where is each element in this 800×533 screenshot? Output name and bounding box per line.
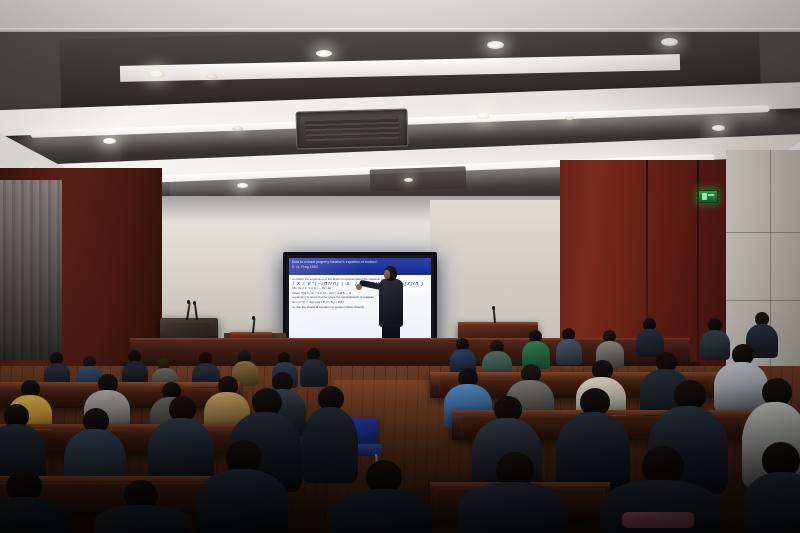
ceiling-downlight — [316, 50, 332, 57]
vent-grille-icon — [305, 117, 400, 142]
person-torso — [744, 472, 800, 533]
audience-member — [450, 338, 476, 372]
lecture-hall-photo: How to extract properly Newton's equatio… — [0, 0, 800, 533]
microphone-head-icon — [252, 316, 255, 320]
ceiling-downlight — [148, 70, 165, 78]
projection-screen: How to extract properly Newton's equatio… — [283, 252, 437, 349]
exit-arrow-icon — [708, 194, 714, 196]
audience-member-foreground — [196, 440, 288, 533]
slide-title-bar: How to extract properly Newton's equatio… — [289, 258, 431, 275]
audience-member-foreground — [94, 480, 190, 533]
ceiling-downlight — [661, 38, 678, 46]
audience-member — [522, 330, 550, 368]
audience-member — [636, 318, 664, 356]
audience-member-foreground — [600, 446, 720, 533]
microphone-head-icon — [187, 300, 190, 304]
person-torso — [332, 489, 432, 533]
audience-member-foreground — [0, 470, 72, 533]
presenter-face — [384, 270, 390, 279]
ceiling-air-conditioner-vent-secondary — [370, 166, 467, 191]
ceiling-soffit-top — [0, 0, 800, 30]
ceiling-soffit-top-edge — [0, 28, 800, 32]
slide-surface: How to extract properly Newton's equatio… — [289, 258, 431, 339]
person-torso — [458, 482, 568, 533]
audience-member-foreground — [744, 442, 800, 533]
audience-member-foreground — [458, 452, 568, 533]
audience-member-foreground — [332, 460, 432, 533]
ceiling-downlight — [565, 116, 574, 120]
ceiling-downlight — [404, 178, 413, 182]
tile-grout-line — [726, 300, 800, 301]
exit-sign — [698, 190, 718, 203]
lectern-top-edge — [458, 322, 538, 326]
person-torso — [0, 497, 72, 533]
microphone-head-icon — [193, 301, 196, 305]
tile-grout-line — [726, 232, 800, 233]
ceiling-downlight — [487, 41, 504, 49]
person-torso — [196, 469, 288, 533]
person-torso — [94, 505, 190, 533]
ceiling-downlight — [206, 74, 218, 79]
presenter-hand — [356, 284, 362, 290]
ceiling-downlight — [712, 125, 725, 131]
running-person-icon — [702, 193, 707, 200]
microphone-head-icon — [492, 306, 495, 310]
left-wall-curtain-shadow — [0, 180, 62, 360]
ceiling-downlight — [232, 126, 243, 131]
ceiling-downlight — [237, 183, 248, 188]
presenter — [375, 266, 409, 342]
audience-member — [556, 328, 582, 364]
ceiling-downlight — [103, 138, 116, 144]
ceiling-downlight — [477, 113, 490, 119]
pink-scarf — [622, 512, 694, 528]
ceiling-air-conditioner-vent — [295, 108, 408, 149]
